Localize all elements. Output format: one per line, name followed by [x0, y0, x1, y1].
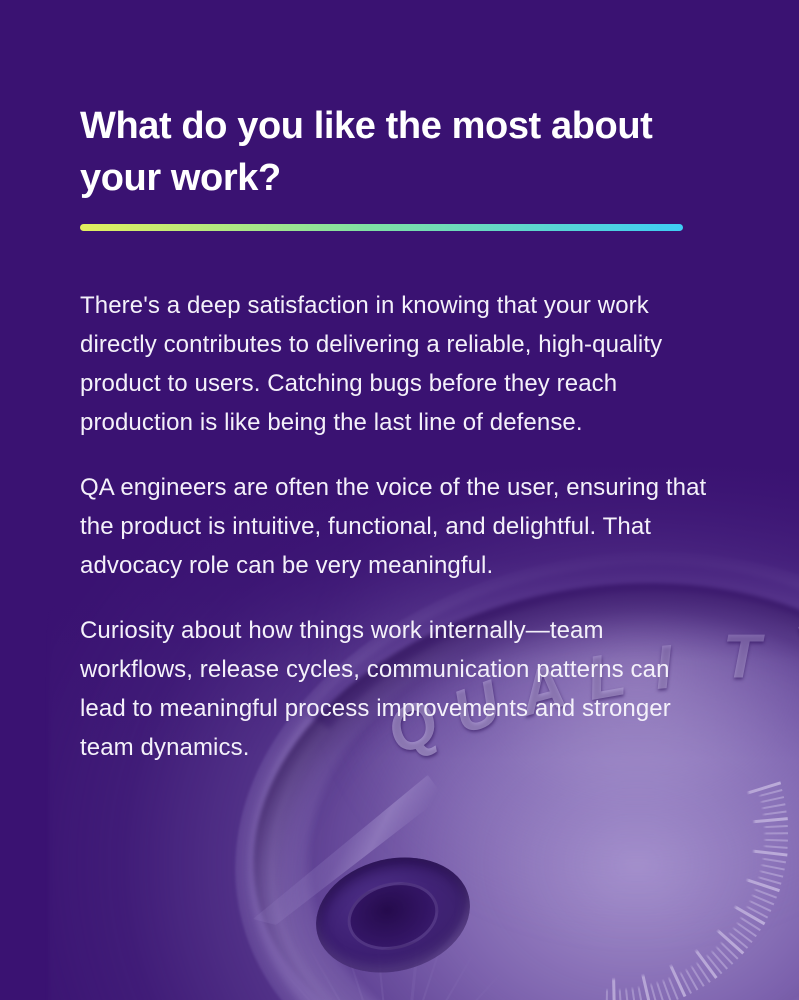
gradient-divider	[80, 224, 683, 231]
watermark-letter: T	[723, 621, 763, 692]
body-paragraph: QA engineers are often the voice of the …	[80, 468, 720, 585]
body-paragraph: Curiosity about how things work internal…	[80, 611, 720, 767]
page-title: What do you like the most about your wor…	[80, 100, 720, 204]
card-content: What do you like the most about your wor…	[80, 0, 719, 1000]
quote-card: QUALITY What do you like the most about …	[0, 0, 799, 1000]
body-paragraph: There's a deep satisfaction in knowing t…	[80, 286, 720, 442]
body-copy: There's a deep satisfaction in knowing t…	[80, 286, 720, 767]
watermark-letter: Y	[788, 614, 799, 689]
